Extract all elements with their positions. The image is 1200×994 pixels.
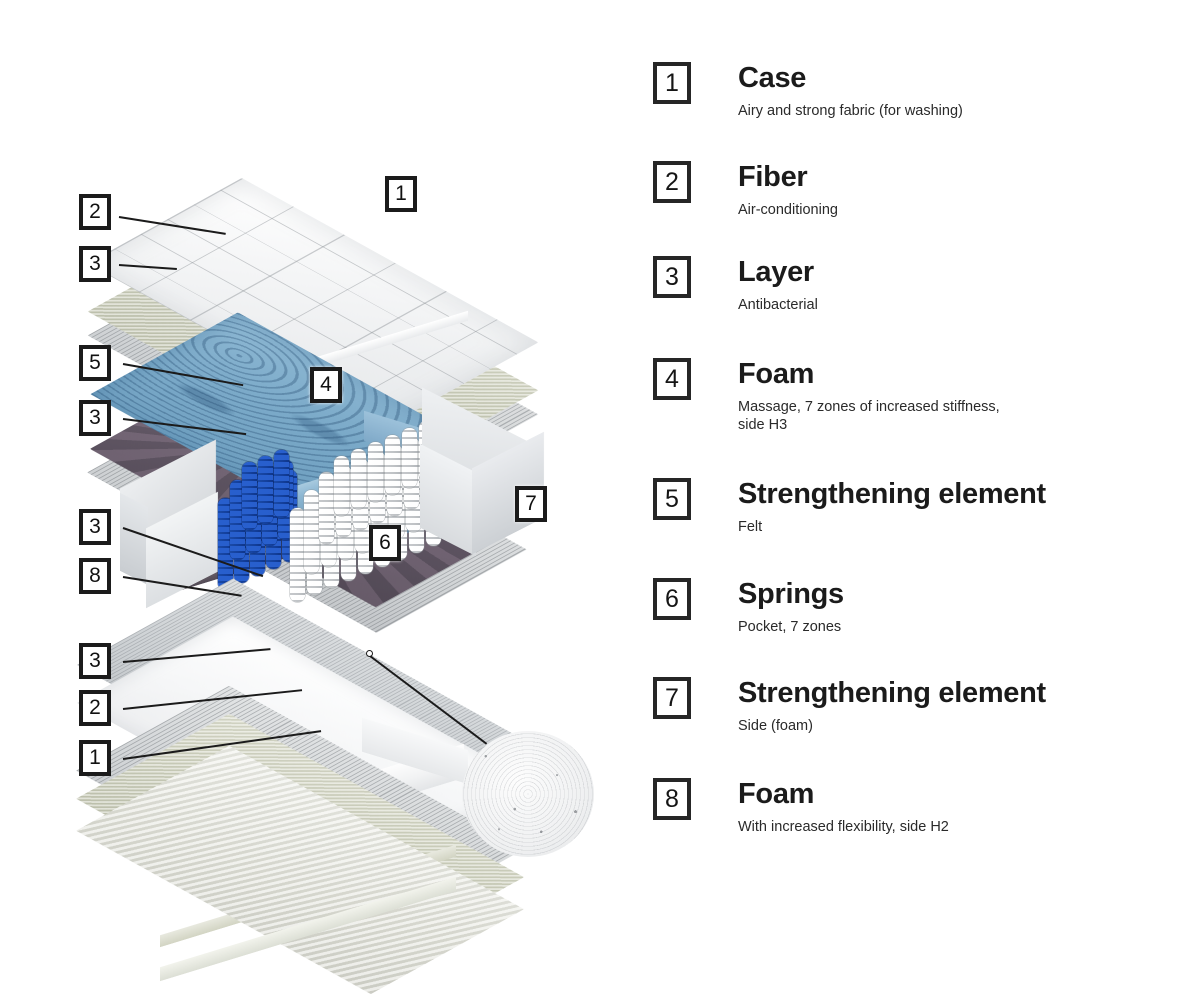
legend-text-4: Foam Massage, 7 zones of increased stiff… bbox=[738, 358, 1000, 434]
legend-text-2: Fiber Air-conditioning bbox=[738, 161, 838, 219]
legend-title-strengthening-felt: Strengthening element bbox=[738, 478, 1046, 511]
callout-4-foam[interactable]: 4 bbox=[310, 367, 342, 403]
legend-text-7: Strengthening element Side (foam) bbox=[738, 677, 1046, 735]
legend-badge-3: 3 bbox=[653, 256, 691, 298]
legend-item-strengthening-side[interactable]: 7 Strengthening element Side (foam) bbox=[653, 677, 1200, 735]
legend-item-case[interactable]: 1 Case Airy and strong fabric (for washi… bbox=[653, 62, 1200, 120]
callout-3-layer-mid[interactable]: 3 bbox=[79, 400, 111, 436]
legend-sub-layer: Antibacterial bbox=[738, 296, 818, 314]
legend-item-strengthening-felt[interactable]: 5 Strengthening element Felt bbox=[653, 478, 1200, 536]
callout-3-layer-top[interactable]: 3 bbox=[79, 246, 111, 282]
mattress-exploded-illustration: 2 3 1 5 3 4 3 8 6 7 3 2 1 bbox=[0, 0, 640, 900]
legend-badge-8: 8 bbox=[653, 778, 691, 820]
callout-2-fiber-bottom[interactable]: 2 bbox=[79, 690, 111, 726]
legend-sub-strengthening-side: Side (foam) bbox=[738, 717, 1046, 735]
callout-1-quilt[interactable]: 1 bbox=[385, 176, 417, 212]
legend-title-layer: Layer bbox=[738, 256, 818, 289]
diagram-page: 2 3 1 5 3 4 3 8 6 7 3 2 1 1 Case Airy an… bbox=[0, 0, 1200, 900]
callout-2-fiber-top[interactable]: 2 bbox=[79, 194, 111, 230]
side-foam-left-face bbox=[120, 493, 148, 585]
legend-badge-2: 2 bbox=[653, 161, 691, 203]
legend-sub-strengthening-felt: Felt bbox=[738, 518, 1046, 536]
legend-sub-foam-massage: Massage, 7 zones of increased stiffness,… bbox=[738, 398, 1000, 434]
callout-7-side-foam[interactable]: 7 bbox=[515, 486, 547, 522]
legend-text-1: Case Airy and strong fabric (for washing… bbox=[738, 62, 963, 120]
callout-5-felt[interactable]: 5 bbox=[79, 345, 111, 381]
legend-text-8: Foam With increased flexibility, side H2 bbox=[738, 778, 949, 836]
legend-sub-springs: Pocket, 7 zones bbox=[738, 618, 844, 636]
legend-badge-5: 5 bbox=[653, 478, 691, 520]
callout-3-layer-springs[interactable]: 3 bbox=[79, 509, 111, 545]
legend-title-fiber: Fiber bbox=[738, 161, 838, 194]
callout-1-case-bottom[interactable]: 1 bbox=[79, 740, 111, 776]
legend-title-foam-flexible: Foam bbox=[738, 778, 949, 811]
legend-title-foam-massage: Foam bbox=[738, 358, 1000, 391]
legend-title-case: Case bbox=[738, 62, 963, 95]
legend-item-foam-massage[interactable]: 4 Foam Massage, 7 zones of increased sti… bbox=[653, 358, 1200, 434]
magnifier-anchor-dot bbox=[366, 650, 373, 657]
legend-badge-7: 7 bbox=[653, 677, 691, 719]
legend-sub-case: Airy and strong fabric (for washing) bbox=[738, 102, 963, 120]
legend-panel: 1 Case Airy and strong fabric (for washi… bbox=[640, 0, 1200, 900]
legend-title-strengthening-side: Strengthening element bbox=[738, 677, 1046, 710]
illustration-stage: 2 3 1 5 3 4 3 8 6 7 3 2 1 bbox=[0, 0, 640, 900]
legend-item-layer[interactable]: 3 Layer Antibacterial bbox=[653, 256, 1200, 314]
legend-item-foam-flexible[interactable]: 8 Foam With increased flexibility, side … bbox=[653, 778, 1200, 836]
callout-8-flexible-foam[interactable]: 8 bbox=[79, 558, 111, 594]
legend-text-5: Strengthening element Felt bbox=[738, 478, 1046, 536]
legend-text-6: Springs Pocket, 7 zones bbox=[738, 578, 844, 636]
legend-title-springs: Springs bbox=[738, 578, 844, 611]
legend-item-fiber[interactable]: 2 Fiber Air-conditioning bbox=[653, 161, 1200, 219]
legend-item-springs[interactable]: 6 Springs Pocket, 7 zones bbox=[653, 578, 1200, 636]
legend-sub-foam-flexible: With increased flexibility, side H2 bbox=[738, 818, 949, 836]
legend-sub-fiber: Air-conditioning bbox=[738, 201, 838, 219]
callout-3-layer-bottom[interactable]: 3 bbox=[79, 643, 111, 679]
legend-badge-6: 6 bbox=[653, 578, 691, 620]
legend-text-3: Layer Antibacterial bbox=[738, 256, 818, 314]
legend-badge-1: 1 bbox=[653, 62, 691, 104]
foam-texture-magnifier bbox=[462, 731, 594, 857]
legend-badge-4: 4 bbox=[653, 358, 691, 400]
callout-6-springs[interactable]: 6 bbox=[369, 525, 401, 561]
